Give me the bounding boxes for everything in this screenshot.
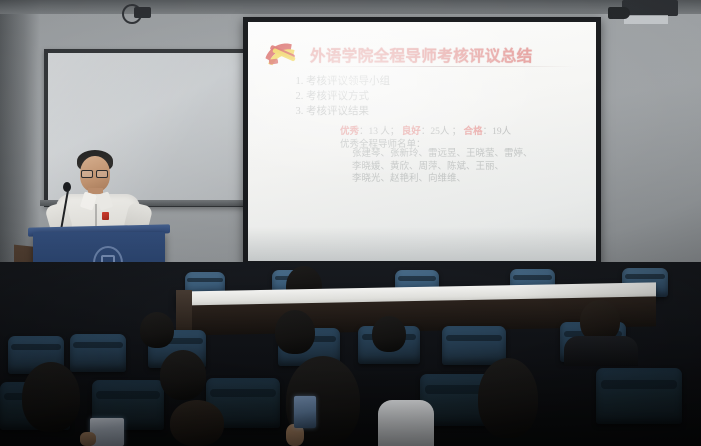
projection-screen: 外语学院全程导师考核评议总结 考核评议领导小组 考核评议方式 考核评议结果 优秀… [248,22,596,261]
slide-content: 外语学院全程导师考核评议总结 考核评议领导小组 考核评议方式 考核评议结果 优秀… [248,22,596,261]
agenda-item-2: 考核评议方式 [306,89,390,104]
agenda-item-3: 考核评议结果 [306,104,390,119]
stat-value-good: 25人 ； [430,127,461,137]
stat-label-pass: 合格 [464,127,483,137]
slide-title: 外语学院全程导师考核评议总结 [310,44,588,66]
slide-title-underline [308,66,576,67]
stat-sep-3: ： [483,127,493,137]
seat [596,368,682,424]
seat [70,334,126,372]
audience-hand [80,432,96,446]
audience-head [170,400,224,446]
stat-value-pass: 19人 [492,127,511,137]
names-list: 张建琴、张新玲、雷远昱、王晓莹、雷婷、 李晓媛、黄欣、周萍、陈斌、王丽、 李晓光… [352,148,533,186]
cpc-party-emblem-icon [259,36,303,72]
audience-head [160,350,206,400]
audience-head [372,316,406,352]
seat [442,326,506,365]
agenda-item-1: 考核评议领导小组 [306,74,390,89]
slide-statistics-line: 优秀：13 人； 良好：25人 ； 合格：19人 [340,123,511,137]
audience-head [478,358,538,438]
names-row-3: 李晓光、赵艳利、向维维、 [352,173,533,186]
glasses-icon [81,170,108,176]
smartphone-screen[interactable] [294,396,316,428]
names-row-1: 张建琴、张新玲、雷远昱、王晓莹、雷婷、 [352,148,533,161]
names-row-2: 李晓媛、黄欣、周萍、陈斌、王丽、 [352,161,533,174]
photo-canvas: 外语学院全程导师考核评议总结 考核评议领导小组 考核评议方式 考核评议结果 优秀… [0,0,701,446]
audience-head [140,312,174,348]
audience-shoulders [378,400,434,446]
audience-head [275,310,315,354]
audience-head [22,362,80,432]
front-desk-left-edge [176,290,192,334]
slide-agenda-list: 考核评议领导小组 考核评议方式 考核评议结果 [288,74,390,119]
lapel-badge-icon [102,212,109,220]
audience-shoulders [564,336,638,366]
